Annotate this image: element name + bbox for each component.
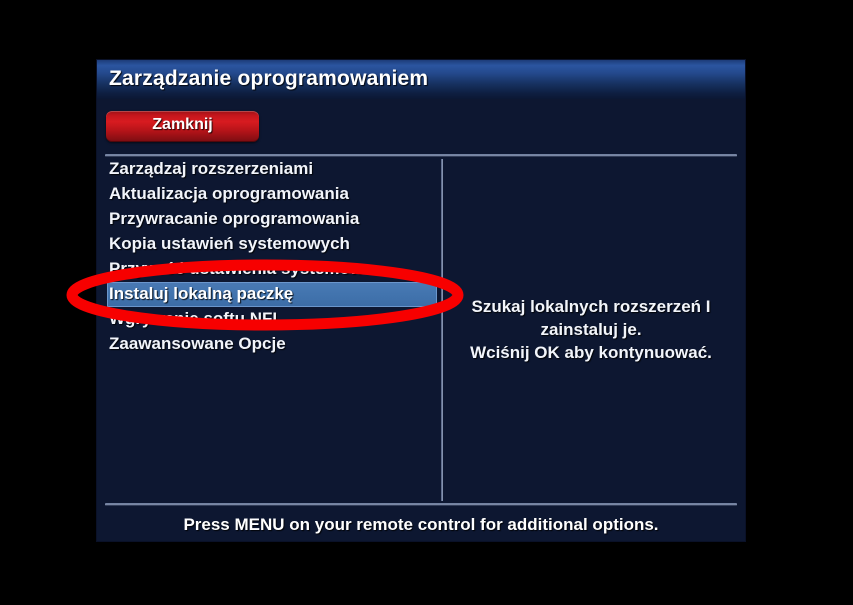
menu-item[interactable]: Aktualizacja oprogramowania — [107, 182, 437, 207]
window-titlebar: Zarządzanie oprogramowaniem — [97, 60, 745, 99]
menu-item[interactable]: Zarządzaj rozszerzeniami — [107, 157, 437, 182]
tv-screen: Zarządzanie oprogramowaniem Zamknij Zarz… — [0, 0, 853, 605]
menu-item[interactable]: Przywracanie oprogramowania — [107, 207, 437, 232]
status-separator — [105, 503, 737, 506]
software-management-window: Zarządzanie oprogramowaniem Zamknij Zarz… — [97, 60, 745, 541]
close-button[interactable]: Zamknij — [106, 111, 259, 142]
panel-divider — [441, 159, 443, 501]
menu-item[interactable]: Zaawansowane Opcje — [107, 332, 437, 357]
menu-list: Zarządzaj rozszerzeniamiAktualizacja opr… — [97, 157, 439, 501]
menu-item[interactable]: Wgrywanie softu NFI — [107, 307, 437, 332]
window-title: Zarządzanie oprogramowaniem — [109, 67, 428, 91]
status-bar: Press MENU on your remote control for ad… — [97, 509, 745, 541]
menu-item[interactable]: Instaluj lokalną paczkę — [107, 282, 437, 307]
description-text: Szukaj lokalnych rozszerzeń I zainstaluj… — [449, 295, 733, 364]
menu-item[interactable]: Przywróć ustawienia systemowe — [107, 257, 437, 282]
menu-item[interactable]: Kopia ustawień systemowych — [107, 232, 437, 257]
description-panel: Szukaj lokalnych rozszerzeń I zainstaluj… — [445, 157, 737, 501]
status-bar-text: Press MENU on your remote control for ad… — [183, 515, 658, 535]
close-button-label: Zamknij — [106, 116, 259, 134]
window-body: Zamknij Zarządzaj rozszerzeniamiAktualiz… — [97, 99, 745, 541]
